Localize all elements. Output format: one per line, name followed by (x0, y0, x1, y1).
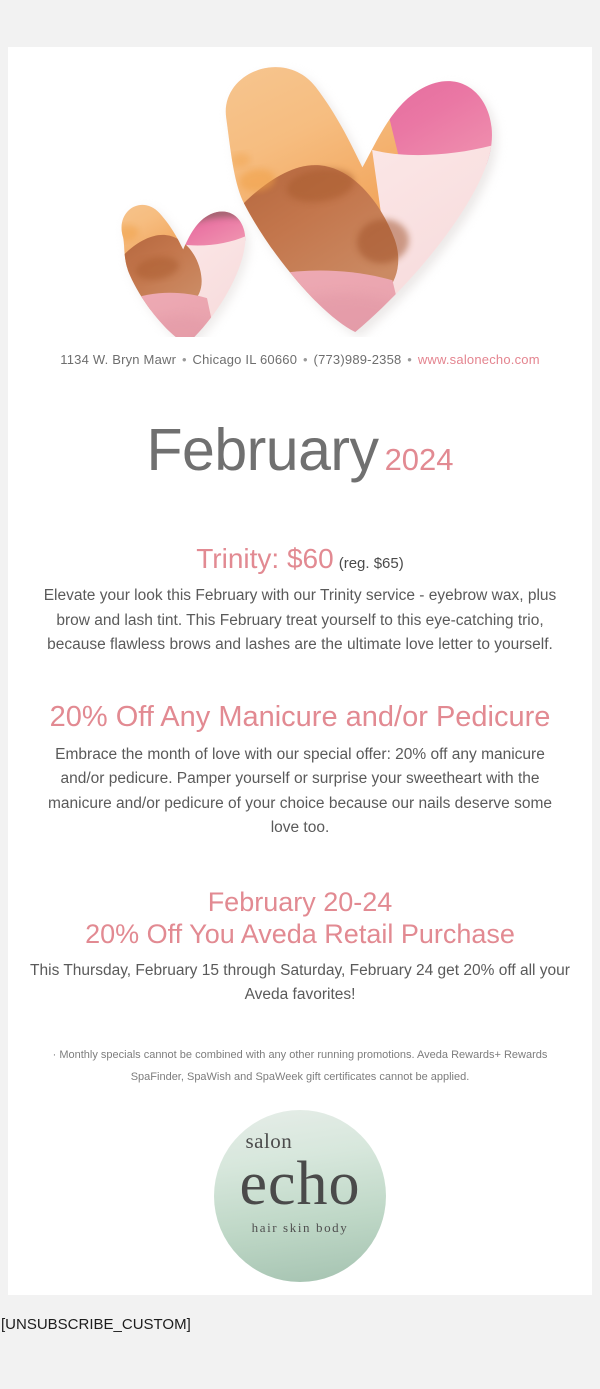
unsubscribe-footer[interactable]: [UNSUBSCRIBE_CUSTOM] (0, 1316, 600, 1333)
salon-echo-logo: salon echo hair skin body (214, 1110, 386, 1282)
headline-year: 2024 (385, 442, 454, 477)
hero-artwork (8, 47, 592, 337)
website-link[interactable]: www.salonecho.com (418, 352, 540, 367)
promo-trinity: Trinity: $60(reg. $65) Elevate your look… (8, 480, 592, 657)
logo-echo-text: echo (239, 1150, 360, 1218)
logo-tagline: hair skin body (252, 1220, 349, 1236)
promo-manicure-pedicure-body: Embrace the month of love with our speci… (40, 743, 560, 841)
promo-manicure-pedicure-title: 20% Off Any Manicure and/or Pedicure (26, 700, 574, 734)
promo-trinity-body: Elevate your look this February with our… (26, 584, 574, 657)
phone-number: (773)989-2358 (314, 352, 402, 367)
promo-aveda-retail-dates: February 20-24 (26, 887, 574, 919)
logo-salon-text: salon (245, 1129, 292, 1154)
email-card: 1134 W. Bryn Mawr • Chicago IL 60660 • (… (8, 47, 592, 1295)
logo-wordmark: salon echo (239, 1155, 360, 1214)
promo-trinity-title: Trinity: $60 (196, 543, 333, 574)
separator-1: • (180, 352, 189, 367)
promo-aveda-retail: February 20-24 20% Off You Aveda Retail … (8, 841, 592, 1008)
promo-trinity-regular-price: (reg. $65) (339, 555, 404, 572)
separator-3: • (405, 352, 414, 367)
promo-trinity-heading: Trinity: $60(reg. $65) (26, 542, 574, 575)
separator-2: • (301, 352, 310, 367)
disclaimer-text: · Monthly specials cannot be combined wi… (8, 1008, 592, 1088)
street-address: 1134 W. Bryn Mawr (60, 352, 176, 367)
promo-aveda-retail-body: This Thursday, February 15 through Satur… (26, 959, 574, 1008)
watercolor-hearts-icon (8, 47, 592, 337)
promo-aveda-retail-title: 20% Off You Aveda Retail Purchase (26, 919, 574, 951)
promo-manicure-pedicure: 20% Off Any Manicure and/or Pedicure Emb… (8, 658, 592, 841)
month-headline: February2024 (8, 369, 592, 480)
logo-container: salon echo hair skin body (8, 1088, 592, 1282)
headline-month: February (146, 417, 378, 483)
contact-line: 1134 W. Bryn Mawr • Chicago IL 60660 • (… (8, 337, 592, 369)
city-state-zip: Chicago IL 60660 (193, 352, 298, 367)
logo-inner: salon echo hair skin body (214, 1110, 386, 1282)
